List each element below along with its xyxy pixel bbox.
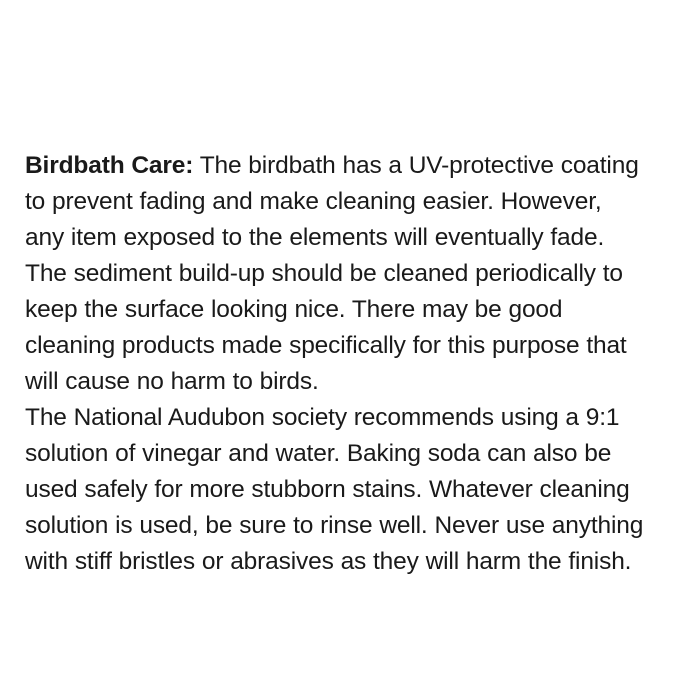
care-heading-label: Birdbath Care: — [25, 152, 193, 179]
text-line-10: used safely for more stubborn stains. Wh… — [25, 472, 685, 508]
text-line-11: solution is used, be sure to rinse well.… — [25, 508, 685, 544]
text-line-9: solution of vinegar and water. Baking so… — [25, 436, 685, 472]
text-line-12: with stiff bristles or abrasives as they… — [25, 544, 685, 580]
text-line-8: The National Audubon society recommends … — [25, 400, 685, 436]
text-line-1-content: The birdbath has a UV-protective coating — [200, 152, 639, 179]
text-line-5: keep the surface looking nice. There may… — [25, 292, 685, 328]
text-line-1-rest: The birdbath has a UV-protective coating — [193, 152, 638, 179]
document-page: Birdbath Care: The birdbath has a UV-pro… — [0, 0, 700, 700]
text-line-1: Birdbath Care: The birdbath has a UV-pro… — [25, 148, 685, 184]
text-line-6: cleaning products made specifically for … — [25, 328, 685, 364]
text-line-3: any item exposed to the elements will ev… — [25, 220, 685, 256]
birdbath-care-text-block: Birdbath Care: The birdbath has a UV-pro… — [25, 148, 685, 580]
text-line-2: to prevent fading and make cleaning easi… — [25, 184, 685, 220]
text-line-7: will cause no harm to birds. — [25, 364, 685, 400]
text-line-4: The sediment build-up should be cleaned … — [25, 256, 685, 292]
